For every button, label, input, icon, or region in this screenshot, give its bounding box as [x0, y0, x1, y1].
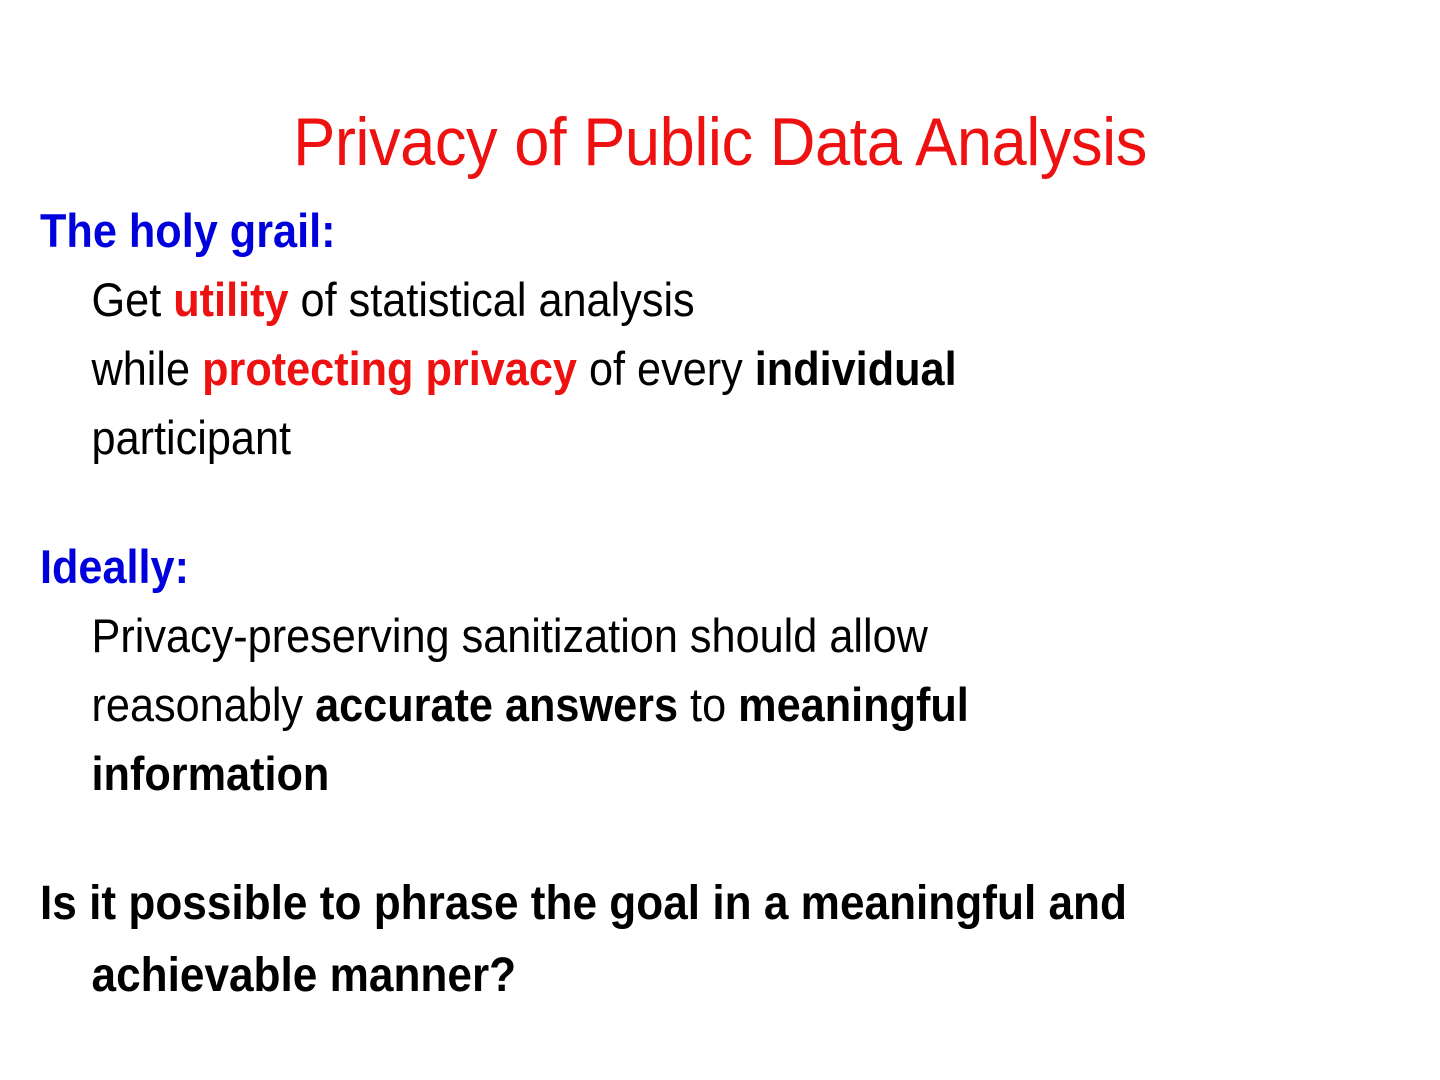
- question-line-1: Is it possible to phrase the goal in a m…: [40, 868, 1310, 940]
- text-segment: of every: [577, 342, 755, 395]
- body-line-ideally-3: information: [40, 739, 1310, 808]
- block-heading-ideally: Ideally:: [40, 532, 1310, 601]
- text-segment: while: [92, 342, 203, 395]
- body-line-ideally-1: Privacy-preserving sanitization should a…: [40, 601, 1310, 670]
- emphasis-utility: utility: [173, 273, 288, 326]
- emphasis-individual: individual: [755, 342, 957, 395]
- content-block-ideally: Ideally: Privacy-preserving sanitization…: [40, 532, 1420, 808]
- text-segment: participant: [92, 411, 292, 464]
- text-segment: Privacy-preserving sanitization should a…: [92, 609, 928, 662]
- text-segment: Get: [92, 273, 174, 326]
- page-title: Privacy of Public Data Analysis: [50, 108, 1389, 176]
- body-line-holy-grail-2: while protecting privacy of every indivi…: [40, 334, 1310, 403]
- text-segment: to: [678, 678, 738, 731]
- emphasis-meaningful: meaningful: [738, 678, 969, 731]
- body-line-ideally-2: reasonably accurate answers to meaningfu…: [40, 670, 1310, 739]
- slide-body: The holy grail: Get utility of statistic…: [40, 196, 1420, 1012]
- block-heading-holy-grail: The holy grail:: [40, 196, 1310, 265]
- content-block-question: Is it possible to phrase the goal in a m…: [40, 868, 1420, 1012]
- slide: Privacy of Public Data Analysis The holy…: [0, 0, 1440, 1080]
- emphasis-information: information: [92, 747, 330, 800]
- content-block-holy-grail: The holy grail: Get utility of statistic…: [40, 196, 1420, 472]
- text-segment: reasonably: [92, 678, 316, 731]
- emphasis-accurate-answers: accurate answers: [315, 678, 678, 731]
- body-line-holy-grail-1: Get utility of statistical analysis: [40, 265, 1310, 334]
- body-line-holy-grail-3: participant: [40, 403, 1310, 472]
- text-segment: of statistical analysis: [289, 273, 695, 326]
- emphasis-protecting-privacy: protecting privacy: [202, 342, 577, 395]
- question-line-2: achievable manner?: [40, 940, 1310, 1012]
